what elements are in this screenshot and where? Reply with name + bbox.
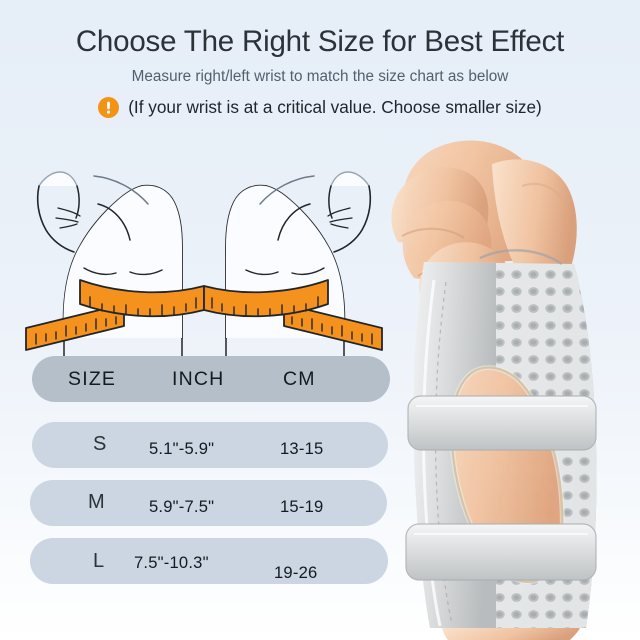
cell-size: S (93, 433, 106, 456)
note-text: (If your wrist is at a critical value. C… (128, 96, 542, 118)
column-header-inch: INCH (172, 368, 224, 391)
lower-velcro-strap (406, 524, 596, 580)
forearm (442, 628, 580, 640)
wrist-brace-on-hand-photo (372, 130, 640, 640)
cell-inch: 7.5"-10.3" (134, 553, 209, 573)
cell-cm: 13-15 (280, 439, 323, 459)
cell-cm: 15-19 (280, 497, 323, 517)
column-header-size: SIZE (68, 368, 116, 391)
size-guide-infographic: Choose The Right Size for Best Effect Me… (0, 0, 640, 640)
size-chart-table: SIZE INCH CM S 5.1"-5.9" 13-15 M 5.9"-7.… (0, 352, 400, 602)
left-wrist-drawing (204, 172, 382, 362)
right-wrist-drawing (26, 172, 204, 362)
wrist-measuring-tape-illustration (14, 142, 394, 362)
critical-value-note: (If your wrist is at a critical value. C… (0, 87, 640, 118)
cell-size: L (93, 550, 104, 573)
header-block: Choose The Right Size for Best Effect Me… (0, 0, 640, 118)
table-header-row: SIZE INCH CM (32, 356, 390, 402)
page-subtitle: Measure right/left wrist to match the si… (0, 60, 640, 87)
table-row: L 7.5"-10.3" 19-26 (30, 538, 388, 584)
upper-velcro-strap (408, 396, 596, 450)
column-header-cm: CM (283, 368, 316, 391)
cell-cm: 19-26 (274, 563, 317, 583)
cell-inch: 5.9"-7.5" (149, 497, 214, 517)
warning-exclamation-icon (98, 97, 119, 118)
cell-size: M (88, 491, 105, 514)
page-title: Choose The Right Size for Best Effect (0, 0, 640, 60)
table-row: M 5.9"-7.5" 15-19 (30, 480, 387, 526)
cell-inch: 5.1"-5.9" (149, 439, 214, 459)
table-row: S 5.1"-5.9" 13-15 (32, 422, 388, 468)
